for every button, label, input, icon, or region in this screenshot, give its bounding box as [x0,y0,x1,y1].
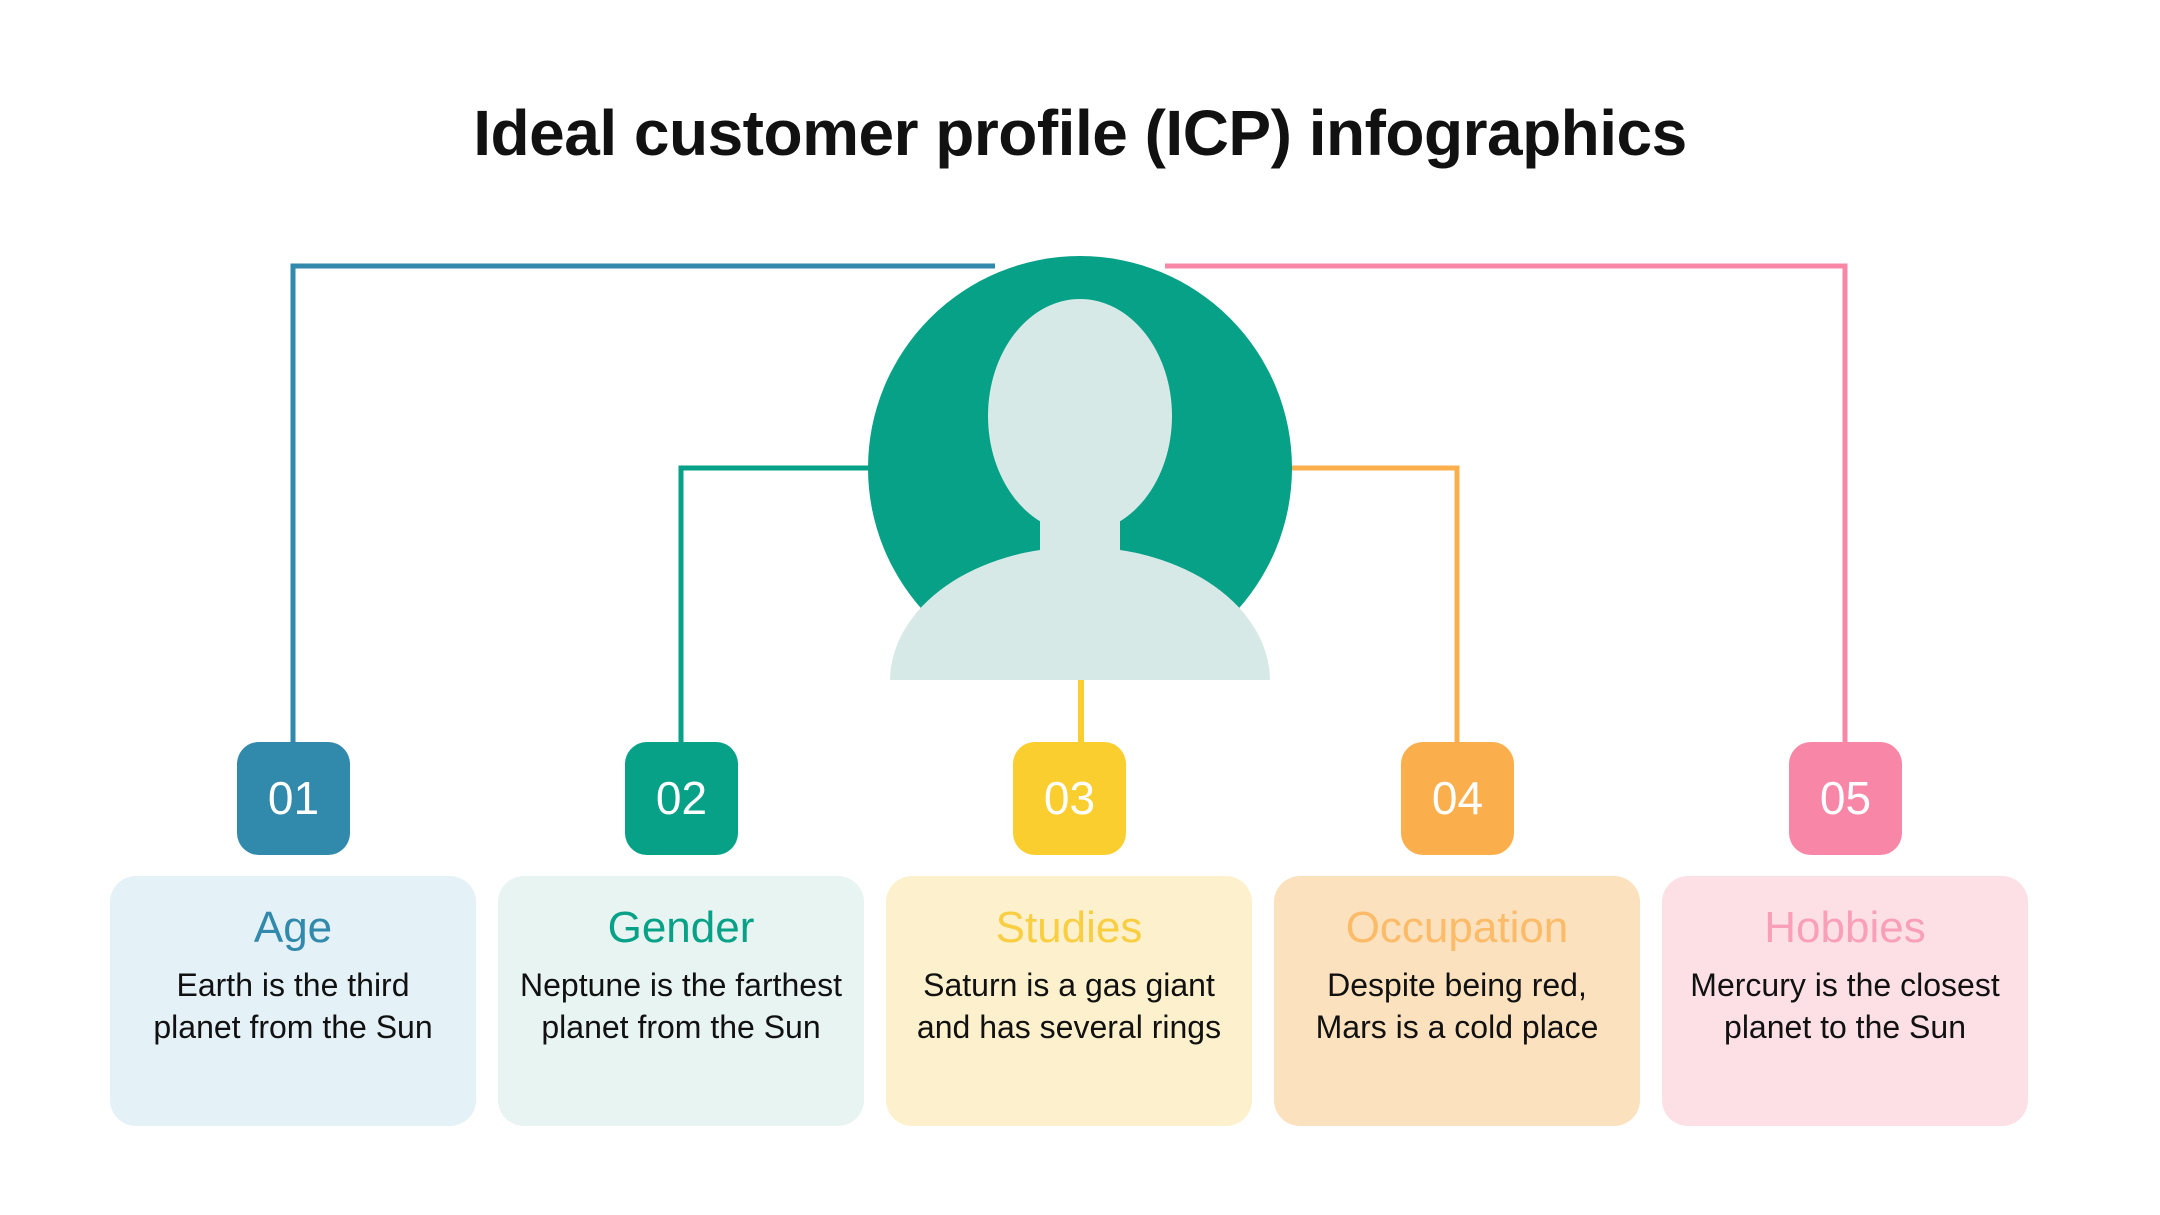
card-title: Age [132,904,454,952]
step-number: 03 [1044,775,1095,821]
info-card-02[interactable]: Gender Neptune is the farthest planet fr… [498,876,864,1126]
info-card-01[interactable]: Age Earth is the third planet from the S… [110,876,476,1126]
card-body: Saturn is a gas giant and has several ri… [908,964,1230,1048]
card-body: Mercury is the closest planet to the Sun [1684,964,2006,1048]
card-body: Neptune is the farthest planet from the … [520,964,842,1048]
step-badge-04[interactable]: 04 [1401,742,1514,855]
step-badge-03[interactable]: 03 [1013,742,1126,855]
step-number: 02 [656,775,707,821]
step-badge-02[interactable]: 02 [625,742,738,855]
step-badge-01[interactable]: 01 [237,742,350,855]
card-title: Hobbies [1684,904,2006,952]
step-number: 05 [1820,775,1871,821]
card-title: Studies [908,904,1230,952]
step-badge-05[interactable]: 05 [1789,742,1902,855]
step-number: 04 [1432,775,1483,821]
connector-line-02 [681,468,880,742]
person-avatar-icon [868,256,1292,680]
info-card-03[interactable]: Studies Saturn is a gas giant and has se… [886,876,1252,1126]
step-number: 01 [268,775,319,821]
connector-line-04 [1280,468,1457,742]
info-card-05[interactable]: Hobbies Mercury is the closest planet to… [1662,876,2028,1126]
card-body: Earth is the third planet from the Sun [132,964,454,1048]
card-body: Despite being red, Mars is a cold place [1296,964,1618,1048]
info-card-04[interactable]: Occupation Despite being red, Mars is a … [1274,876,1640,1126]
infographic-canvas: Ideal customer profile (ICP) infographic… [0,0,2160,1215]
card-title: Occupation [1296,904,1618,952]
card-title: Gender [520,904,842,952]
